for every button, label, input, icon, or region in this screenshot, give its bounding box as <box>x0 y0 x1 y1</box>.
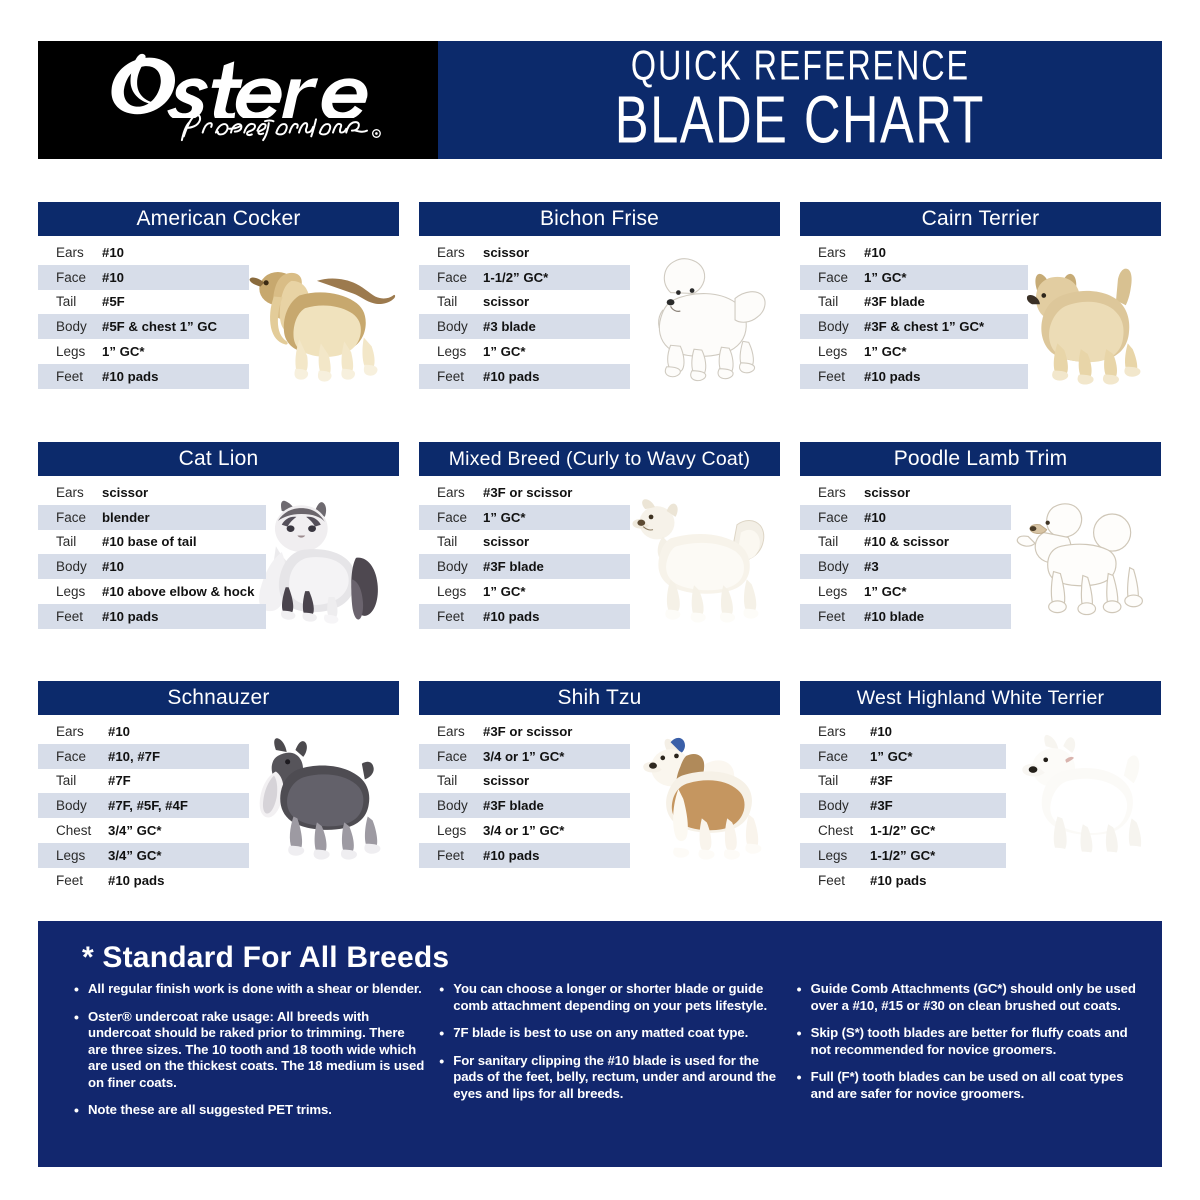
card-row-3: Schnauzer <box>38 681 1161 893</box>
table-row: Legs1” GC* <box>800 579 1011 604</box>
row-label: Ears <box>818 245 864 260</box>
westie-illustration-icon <box>993 719 1159 869</box>
table-row: Ears#10 <box>38 240 249 265</box>
table-row: Face1” GC* <box>419 505 630 530</box>
row-label: Feet <box>56 873 108 888</box>
row-label: Ears <box>56 724 108 739</box>
table-row: Tailscissor <box>419 769 630 794</box>
row-label: Feet <box>818 369 864 384</box>
header-title-line2: BLADE CHART <box>615 87 985 154</box>
row-value: scissor <box>864 485 910 500</box>
row-value: #10 <box>108 724 130 739</box>
row-label: Feet <box>818 873 870 888</box>
table-row: Tail#10 & scissor <box>800 530 1011 555</box>
row-value: #10 above elbow & hock <box>102 584 254 599</box>
cocker-spaniel-illustration-icon <box>231 240 397 390</box>
card-rows: Ears#10 Face#10 Tail#5F Body#5F & chest … <box>38 240 249 389</box>
row-value: #5F <box>102 294 125 309</box>
row-value: #10 <box>102 270 124 285</box>
row-value: #10 <box>864 245 886 260</box>
table-row: Legs1” GC* <box>419 579 630 604</box>
row-value: 1” GC* <box>864 344 907 359</box>
row-label: Ears <box>437 724 483 739</box>
table-row: Legs3/4 or 1” GC* <box>419 818 630 843</box>
row-label: Body <box>437 798 483 813</box>
card-title: Poodle Lamb Trim <box>800 442 1161 476</box>
row-value: #10 <box>102 559 124 574</box>
table-row: Earsscissor <box>419 240 630 265</box>
row-value: #3F <box>870 773 893 788</box>
row-label: Feet <box>818 609 864 624</box>
standard-for-all-breeds-panel: * Standard For All Breeds All regular fi… <box>38 921 1162 1167</box>
breed-card-american-cocker: American Cocker <box>38 202 399 389</box>
footer-note: For sanitary clipping the #10 blade is u… <box>439 1053 782 1103</box>
footer-note: Guide Comb Attachments (GC*) should only… <box>797 981 1140 1014</box>
table-row: Legs1” GC* <box>38 339 249 364</box>
table-row: Tailscissor <box>419 290 630 315</box>
table-row: Feet#10 blade <box>800 604 1011 629</box>
row-value: #3F blade <box>483 559 544 574</box>
row-value: #10 pads <box>483 369 539 384</box>
row-value: scissor <box>483 773 529 788</box>
row-label: Body <box>818 319 864 334</box>
row-label: Legs <box>818 848 870 863</box>
card-rows: Ears#10 Face#10, #7F Tail#7F Body#7F, #5… <box>38 719 249 893</box>
bichon-frise-illustration-icon <box>612 240 778 390</box>
table-row: Ears#3F or scissor <box>419 719 630 744</box>
table-row: Body#3F <box>800 793 1006 818</box>
footer-column-3: Guide Comb Attachments (GC*) should only… <box>797 981 1140 1130</box>
row-label: Body <box>437 559 483 574</box>
breed-card-west-highland-white-terrier: West Highland White Terrier <box>800 681 1161 893</box>
table-row: Body#3F & chest 1” GC* <box>800 314 1028 339</box>
row-value: 3/4” GC* <box>108 848 162 863</box>
table-row: Chest3/4” GC* <box>38 818 249 843</box>
row-value: #7F <box>108 773 131 788</box>
table-row: Body#5F & chest 1” GC <box>38 314 249 339</box>
row-value: 1” GC* <box>864 270 907 285</box>
row-value: #10, #7F <box>108 749 160 764</box>
row-label: Tail <box>437 534 483 549</box>
row-value: #10 base of tail <box>102 534 197 549</box>
table-row: Body#10 <box>38 554 266 579</box>
row-value: 3/4 or 1” GC* <box>483 823 564 838</box>
row-label: Chest <box>818 823 870 838</box>
row-label: Tail <box>56 534 102 549</box>
footer-note: Full (F*) tooth blades can be used on al… <box>797 1069 1140 1102</box>
row-label: Body <box>818 559 864 574</box>
row-label: Face <box>437 510 483 525</box>
table-row: Feet#10 pads <box>38 868 249 893</box>
row-label: Ears <box>818 724 870 739</box>
row-value: blender <box>102 510 150 525</box>
row-value: 1-1/2” GC* <box>870 823 935 838</box>
row-value: #10 pads <box>102 369 158 384</box>
footer-column-1: All regular finish work is done with a s… <box>74 981 425 1130</box>
table-row: Tail#3F blade <box>800 290 1028 315</box>
row-label: Ears <box>818 485 864 500</box>
table-row: Earsscissor <box>800 480 1011 505</box>
row-label: Face <box>56 270 102 285</box>
table-row: Face#10, #7F <box>38 744 249 769</box>
table-row: Tailscissor <box>419 530 630 555</box>
table-row: Feet#10 pads <box>419 364 630 389</box>
row-label: Legs <box>437 823 483 838</box>
breed-card-poodle-lamb-trim: Poodle Lamb Trim <box>800 442 1161 629</box>
breed-card-cat-lion: Cat Lion <box>38 442 399 629</box>
row-label: Tail <box>56 294 102 309</box>
row-value: scissor <box>483 294 529 309</box>
row-label: Body <box>56 559 102 574</box>
table-row: Legs3/4” GC* <box>38 843 249 868</box>
shih-tzu-illustration-icon <box>612 719 778 869</box>
table-row: Body#3 blade <box>419 314 630 339</box>
table-row: Tail#7F <box>38 769 249 794</box>
row-value: #10 pads <box>483 848 539 863</box>
table-row: Body#3 <box>800 554 1011 579</box>
row-label: Feet <box>437 609 483 624</box>
row-value: #10 pads <box>864 369 920 384</box>
card-rows: Earsscissor Face#10 Tail#10 & scissor Bo… <box>800 480 1011 629</box>
row-value: #10 pads <box>108 873 164 888</box>
row-value: #3F blade <box>483 798 544 813</box>
breed-card-mixed-breed: Mixed Breed (Curly to Wavy Coat) <box>419 442 780 629</box>
row-value: #3F or scissor <box>483 724 572 739</box>
row-value: scissor <box>483 245 529 260</box>
card-rows: Ears#10 Face1” GC* Tail#3F blade Body#3F… <box>800 240 1011 389</box>
row-value: #3F <box>870 798 893 813</box>
breed-card-bichon-frise: Bichon Frise <box>419 202 780 389</box>
table-row: Legs#10 above elbow & hock <box>38 579 266 604</box>
page-header: QUICK REFERENCE BLADE CHART <box>38 41 1162 159</box>
row-value: #3F or scissor <box>483 485 572 500</box>
row-value: 3/4 or 1” GC* <box>483 749 564 764</box>
card-rows: Earsscissor Face1-1/2” GC* Tailscissor B… <box>419 240 630 389</box>
schnauzer-illustration-icon <box>231 719 397 869</box>
table-row: Feet#10 pads <box>800 364 1028 389</box>
row-label: Face <box>437 749 483 764</box>
oster-logo-block <box>38 41 438 159</box>
row-label: Ears <box>56 245 102 260</box>
header-title-line1: QUICK REFERENCE <box>630 45 969 87</box>
row-label: Feet <box>56 609 102 624</box>
row-value: 1” GC* <box>483 344 526 359</box>
card-title: West Highland White Terrier <box>800 681 1161 715</box>
card-title: Schnauzer <box>38 681 399 715</box>
table-row: Ears#10 <box>800 719 1006 744</box>
row-label: Legs <box>818 584 864 599</box>
breed-card-cairn-terrier: Cairn Terrier <box>800 202 1161 389</box>
card-rows: Earsscissor Faceblender Tail#10 base of … <box>38 480 249 629</box>
footer-note: Oster® undercoat rake usage: All breeds … <box>74 1009 425 1092</box>
table-row: Legs1-1/2” GC* <box>800 843 1006 868</box>
table-row: Feet#10 pads <box>419 843 630 868</box>
table-row: Tail#5F <box>38 290 249 315</box>
row-value: #3F & chest 1” GC* <box>864 319 984 334</box>
row-value: 1” GC* <box>483 510 526 525</box>
table-row: Feet#10 pads <box>38 604 266 629</box>
row-label: Tail <box>818 534 864 549</box>
row-label: Ears <box>437 485 483 500</box>
row-value: 1” GC* <box>864 584 907 599</box>
row-label: Ears <box>437 245 483 260</box>
row-label: Chest <box>56 823 108 838</box>
row-label: Feet <box>56 369 102 384</box>
row-label: Face <box>818 749 870 764</box>
table-row: Ears#10 <box>800 240 1028 265</box>
row-value: 1” GC* <box>483 584 526 599</box>
row-value: 1-1/2” GC* <box>483 270 548 285</box>
row-label: Feet <box>437 848 483 863</box>
table-row: Tail#10 base of tail <box>38 530 266 555</box>
row-label: Body <box>818 798 870 813</box>
row-value: 1” GC* <box>102 344 145 359</box>
footer-note: You can choose a longer or shorter blade… <box>439 981 782 1014</box>
table-row: Legs1” GC* <box>419 339 630 364</box>
row-label: Face <box>818 510 864 525</box>
card-title: Cairn Terrier <box>800 202 1161 236</box>
footer-note: All regular finish work is done with a s… <box>74 981 425 998</box>
row-label: Tail <box>437 294 483 309</box>
header-title-block: QUICK REFERENCE BLADE CHART <box>438 41 1162 159</box>
footer-note: Note these are all suggested PET trims. <box>74 1102 425 1119</box>
table-row: Tail#3F <box>800 769 1006 794</box>
row-value: 1-1/2” GC* <box>870 848 935 863</box>
card-rows: Ears#3F or scissor Face3/4 or 1” GC* Tai… <box>419 719 630 868</box>
row-label: Legs <box>437 344 483 359</box>
row-value: #5F & chest 1” GC <box>102 319 217 334</box>
row-value: #7F, #5F, #4F <box>108 798 188 813</box>
row-label: Tail <box>818 773 870 788</box>
row-value: #10 & scissor <box>864 534 949 549</box>
card-row-2: Cat Lion <box>38 442 1161 629</box>
row-label: Face <box>818 270 864 285</box>
breed-card-shih-tzu: Shih Tzu <box>419 681 780 893</box>
row-value: #10 <box>864 510 886 525</box>
table-row: Body#3F blade <box>419 793 630 818</box>
row-label: Body <box>437 319 483 334</box>
row-label: Ears <box>56 485 102 500</box>
table-row: Faceblender <box>38 505 266 530</box>
card-rows: Ears#10 Face1” GC* Tail#3F Body#3F Chest… <box>800 719 1011 893</box>
footer-title: * Standard For All Breeds <box>82 941 1140 975</box>
card-title: Bichon Frise <box>419 202 780 236</box>
row-value: scissor <box>483 534 529 549</box>
footer-note: 7F blade is best to use on any matted co… <box>439 1025 782 1042</box>
row-value: #3 blade <box>483 319 536 334</box>
footer-note: Skip (S*) tooth blades are better for fl… <box>797 1025 1140 1058</box>
footer-column-2: You can choose a longer or shorter blade… <box>439 981 782 1130</box>
table-row: Body#3F blade <box>419 554 630 579</box>
row-value: 1” GC* <box>870 749 913 764</box>
table-row: Chest1-1/2” GC* <box>800 818 1006 843</box>
row-value: #10 <box>102 245 124 260</box>
row-label: Legs <box>56 848 108 863</box>
card-title: American Cocker <box>38 202 399 236</box>
card-rows: Ears#3F or scissor Face1” GC* Tailscisso… <box>419 480 630 629</box>
goldendoodle-illustration-icon <box>612 480 778 630</box>
breed-card-schnauzer: Schnauzer <box>38 681 399 893</box>
row-value: 3/4” GC* <box>108 823 162 838</box>
row-label: Face <box>56 749 108 764</box>
table-row: Feet#10 pads <box>38 364 249 389</box>
row-value: scissor <box>102 485 148 500</box>
table-row: Face3/4 or 1” GC* <box>419 744 630 769</box>
row-label: Tail <box>818 294 864 309</box>
table-row: Face1” GC* <box>800 265 1028 290</box>
card-title: Mixed Breed (Curly to Wavy Coat) <box>419 442 780 476</box>
row-label: Body <box>56 319 102 334</box>
row-label: Legs <box>56 584 102 599</box>
row-label: Tail <box>56 773 108 788</box>
row-value: #3F blade <box>864 294 925 309</box>
row-value: #3 <box>864 559 879 574</box>
table-row: Face#10 <box>800 505 1011 530</box>
table-row: Feet#10 pads <box>419 604 630 629</box>
row-label: Face <box>56 510 102 525</box>
row-value: #10 pads <box>102 609 158 624</box>
poodle-illustration-icon <box>993 480 1159 630</box>
table-row: Body#7F, #5F, #4F <box>38 793 249 818</box>
row-label: Face <box>437 270 483 285</box>
table-row: Face1-1/2” GC* <box>419 265 630 290</box>
row-label: Legs <box>818 344 864 359</box>
row-label: Legs <box>437 584 483 599</box>
table-row: Ears#3F or scissor <box>419 480 630 505</box>
table-row: Ears#10 <box>38 719 249 744</box>
professional-script-icon <box>176 108 388 142</box>
row-label: Body <box>56 798 108 813</box>
row-value: #10 pads <box>870 873 926 888</box>
table-row: Face#10 <box>38 265 249 290</box>
table-row: Feet#10 pads <box>800 868 1006 893</box>
card-row-1: American Cocker <box>38 202 1161 389</box>
row-value: #10 pads <box>483 609 539 624</box>
table-row: Face1” GC* <box>800 744 1006 769</box>
row-value: #10 <box>870 724 892 739</box>
card-title: Cat Lion <box>38 442 399 476</box>
table-row: Earsscissor <box>38 480 266 505</box>
row-label: Feet <box>437 369 483 384</box>
card-title: Shih Tzu <box>419 681 780 715</box>
row-label: Tail <box>437 773 483 788</box>
row-label: Legs <box>56 344 102 359</box>
row-value: #10 blade <box>864 609 924 624</box>
table-row: Legs1” GC* <box>800 339 1028 364</box>
